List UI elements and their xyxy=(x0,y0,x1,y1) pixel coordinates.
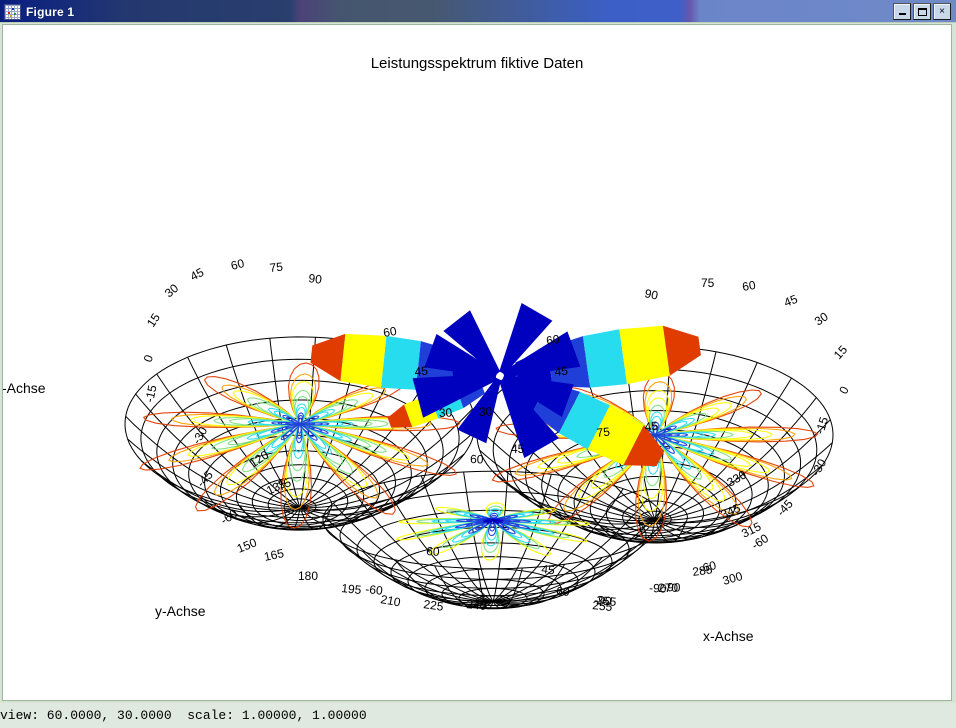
svg-text:75: 75 xyxy=(269,260,284,275)
window-controls: × xyxy=(893,3,951,20)
figure-plot-icon xyxy=(4,4,21,20)
svg-text:60: 60 xyxy=(556,584,571,599)
svg-text:330: 330 xyxy=(725,467,750,489)
svg-text:45: 45 xyxy=(554,364,569,379)
svg-text:180: 180 xyxy=(298,569,318,583)
svg-text:-60: -60 xyxy=(697,558,718,576)
svg-text:-15: -15 xyxy=(813,415,832,436)
svg-text:45: 45 xyxy=(644,419,659,434)
svg-text:-60: -60 xyxy=(365,582,384,598)
svg-text:45: 45 xyxy=(782,292,800,310)
svg-text:-90: -90 xyxy=(663,580,681,595)
svg-text:75: 75 xyxy=(596,425,611,440)
svg-text:30: 30 xyxy=(162,281,181,301)
window-titlebar[interactable]: Figure 1 × xyxy=(0,0,956,23)
polar-plot-svg: 4560759030150-15-30-45-60150165180195210… xyxy=(3,25,952,701)
status-bar: view: 60.0000, 30.0000 scale: 1.00000, 1… xyxy=(0,703,956,728)
svg-text:45: 45 xyxy=(414,364,429,379)
svg-text:75: 75 xyxy=(701,276,715,290)
svg-text:90: 90 xyxy=(643,286,659,303)
svg-text:0: 0 xyxy=(836,384,852,397)
svg-text:120: 120 xyxy=(247,448,272,471)
svg-text:210: 210 xyxy=(379,592,401,609)
svg-text:60: 60 xyxy=(229,256,246,273)
svg-text:45: 45 xyxy=(511,442,525,456)
svg-text:-15: -15 xyxy=(142,383,159,403)
svg-text:15: 15 xyxy=(144,311,163,330)
status-text: view: 60.0000, 30.0000 scale: 1.00000, 1… xyxy=(0,708,367,723)
svg-text:15: 15 xyxy=(831,342,851,362)
figure-window: Figure 1 × Leistungsspektrum fiktive Dat… xyxy=(0,0,956,728)
svg-text:45: 45 xyxy=(541,562,556,577)
svg-text:60: 60 xyxy=(426,544,441,559)
svg-text:165: 165 xyxy=(263,546,286,564)
svg-text:150: 150 xyxy=(235,535,259,556)
maximize-button[interactable] xyxy=(913,3,931,20)
svg-text:30: 30 xyxy=(479,405,493,419)
svg-text:300: 300 xyxy=(721,569,744,588)
svg-text:0: 0 xyxy=(141,353,157,364)
svg-text:60: 60 xyxy=(470,452,484,466)
svg-text:90: 90 xyxy=(308,271,323,287)
svg-text:60: 60 xyxy=(741,278,757,294)
window-title: Figure 1 xyxy=(26,5,74,19)
svg-text:-90: -90 xyxy=(594,593,613,608)
svg-text:195: 195 xyxy=(341,581,363,597)
close-button[interactable]: × xyxy=(933,3,951,20)
svg-text:60: 60 xyxy=(382,324,398,340)
svg-text:30: 30 xyxy=(439,406,453,420)
minimize-button[interactable] xyxy=(893,3,911,20)
svg-text:240: 240 xyxy=(466,597,488,613)
svg-text:45: 45 xyxy=(188,265,207,284)
svg-text:30: 30 xyxy=(812,309,831,328)
figure-canvas[interactable]: Leistungsspektrum fiktive Daten z-Achse … xyxy=(2,24,952,701)
svg-text:60: 60 xyxy=(545,332,561,348)
svg-text:225: 225 xyxy=(423,597,445,614)
